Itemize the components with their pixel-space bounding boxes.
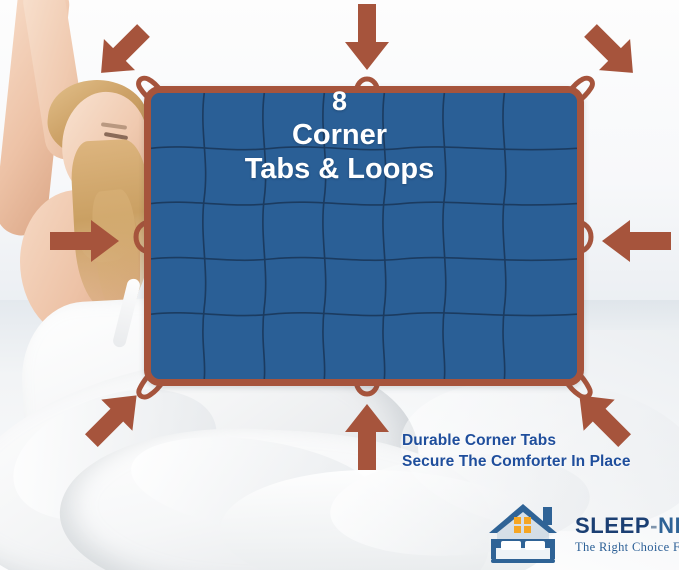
promo-line-2: Secure The Comforter In Place [402,451,631,472]
promo-line-1: Durable Corner Tabs [402,430,631,451]
logo-wordmark: SLEEP-NEST The Right Choice For You [575,511,679,555]
arrow-bottom-center [340,402,394,472]
arrow-top-right [576,16,646,86]
promo-caption: Durable Corner Tabs Secure The Comforter… [402,430,631,473]
logo-tagline: The Right Choice For You [575,540,679,555]
house-bed-icon [487,501,569,565]
logo-word-row: SLEEP-NEST [575,515,679,537]
quilt-stitch-grid [151,93,577,379]
logo-word-nest: NEST [658,513,679,538]
brand-logo: SLEEP-NEST The Right Choice For You [487,500,677,566]
arrow-right [600,216,674,266]
arrow-bottom-left [78,382,150,454]
arrow-top-center [340,0,394,72]
product-infographic: 8 Corner Tabs & Loops [0,0,679,570]
arrow-top-left [88,16,158,86]
logo-word-sleep: SLEEP [575,513,650,538]
comforter-panel [144,86,584,386]
arrow-left [47,216,121,266]
logo-word-dash: - [650,513,658,538]
